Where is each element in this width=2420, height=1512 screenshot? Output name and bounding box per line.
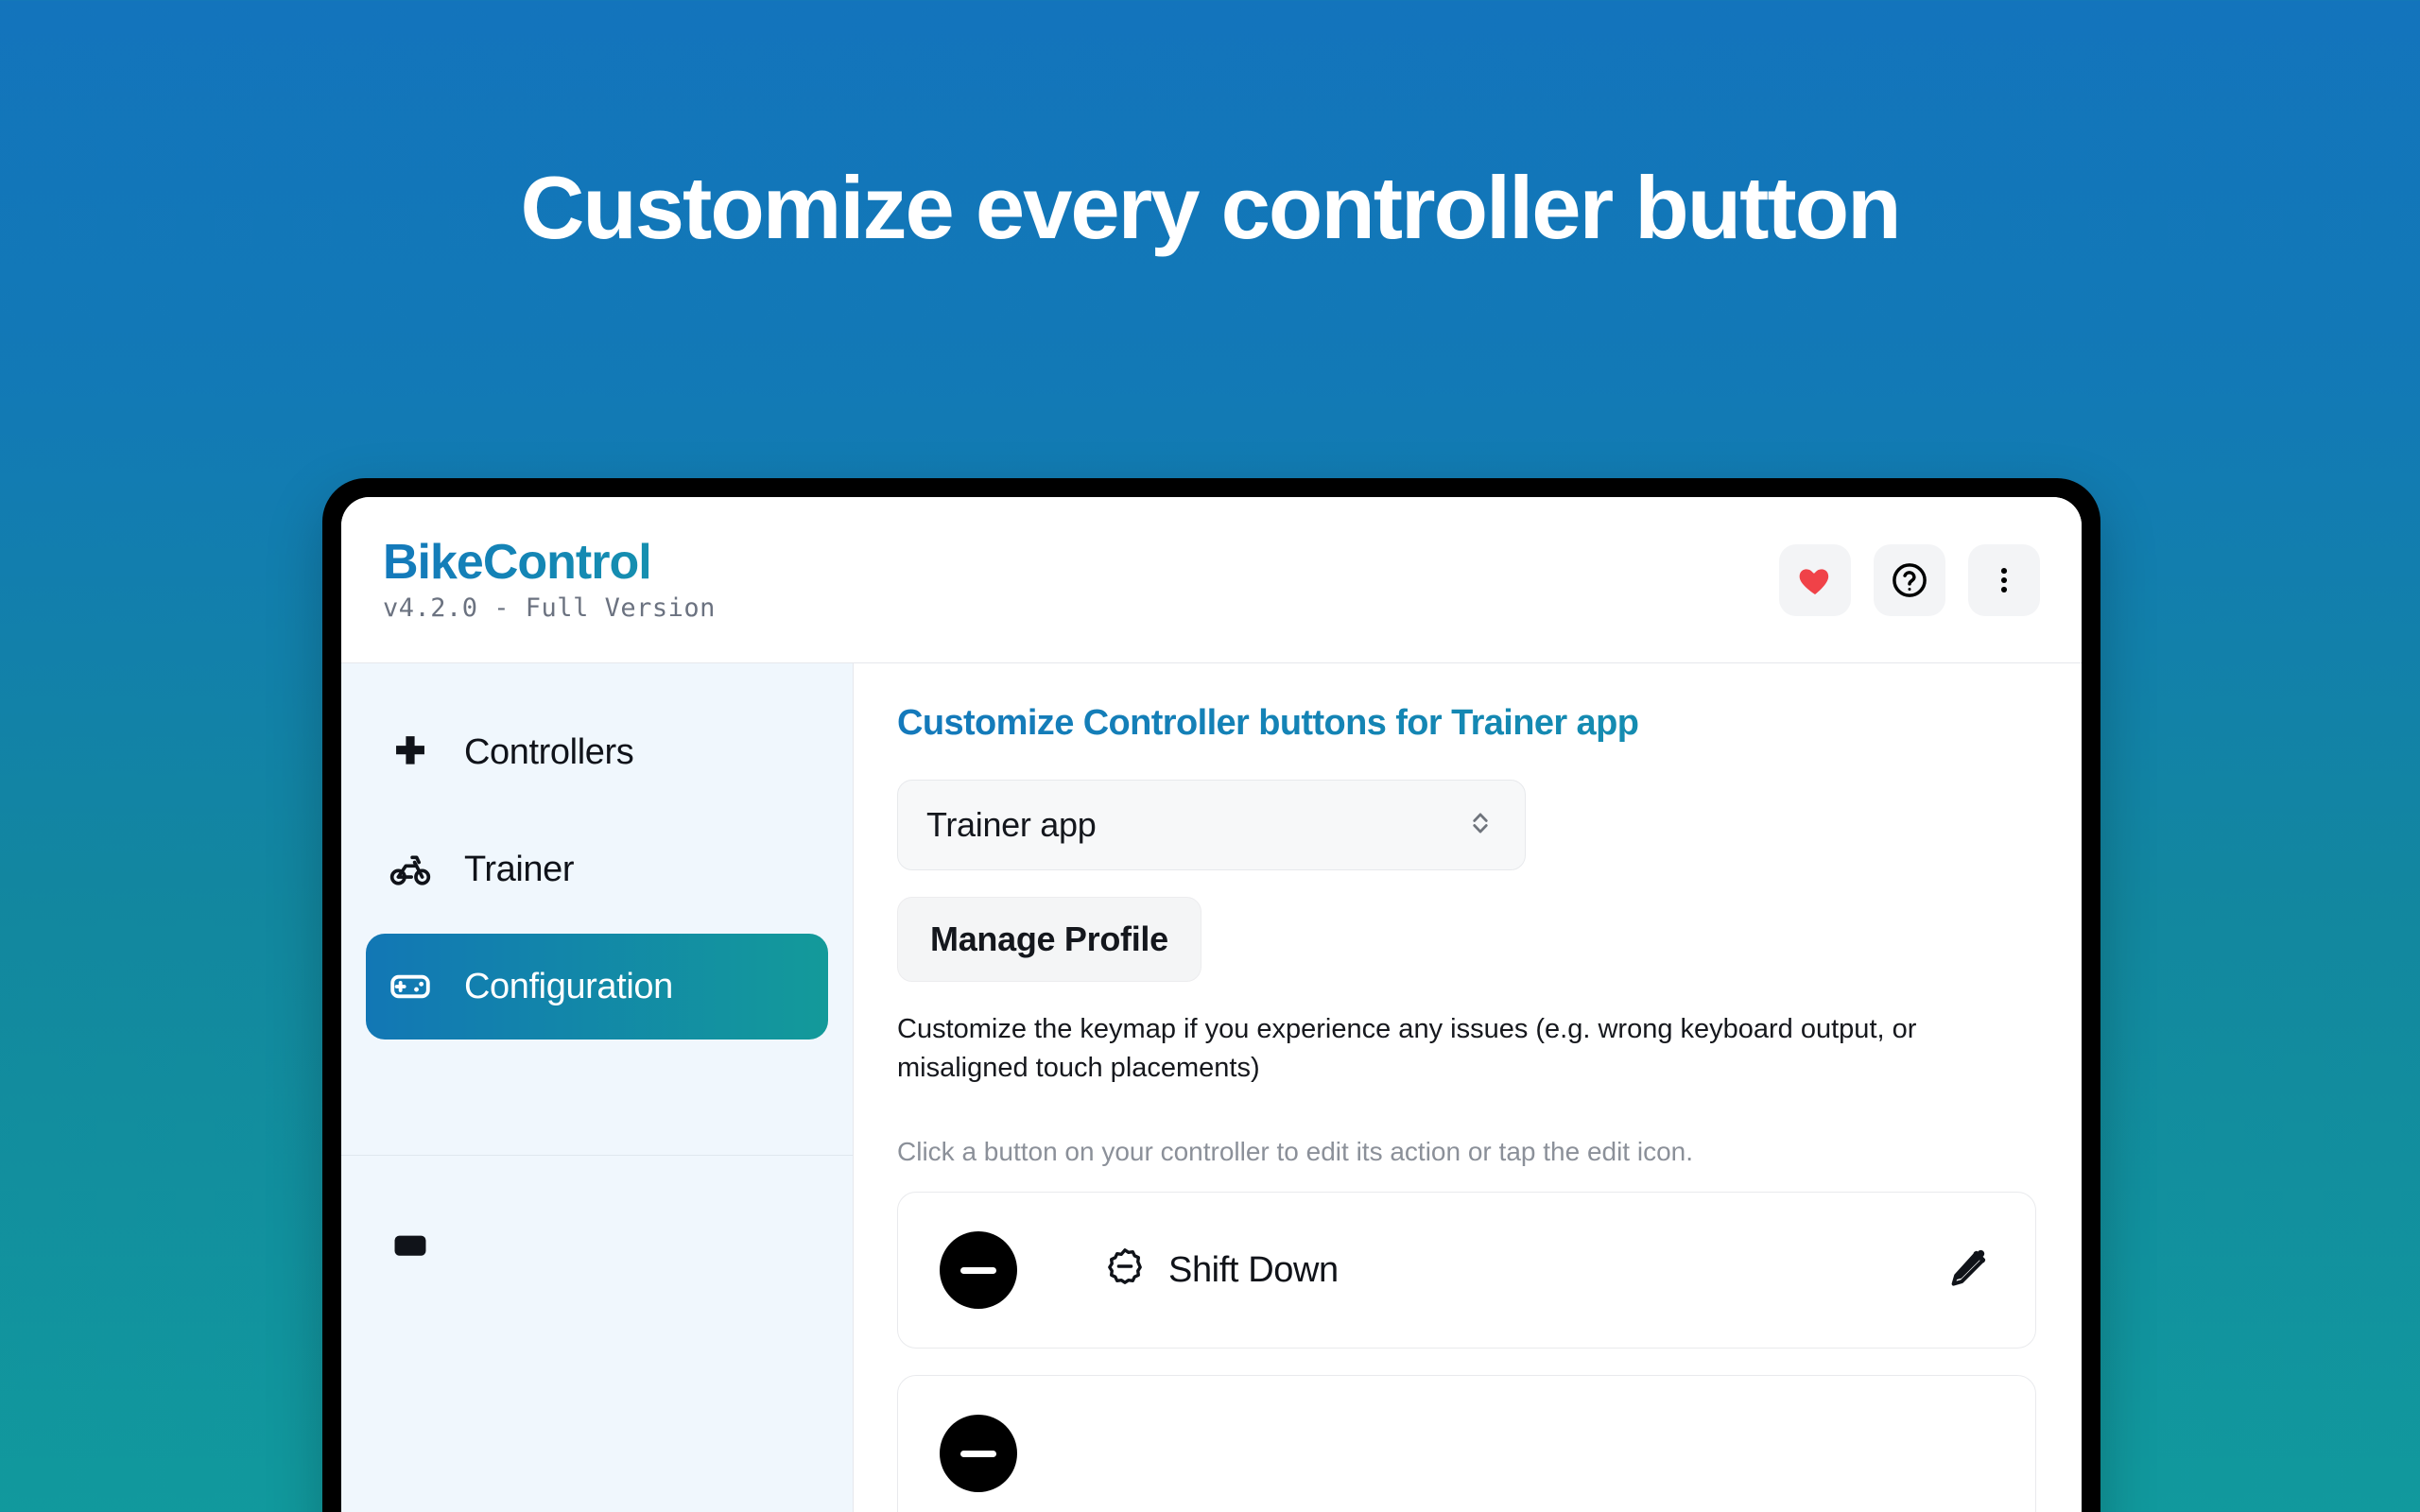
chevron-up-down-icon <box>1464 807 1496 844</box>
controller-button-badge <box>940 1231 1017 1309</box>
sidebar-item-label: Controllers <box>464 732 633 773</box>
sidebar: Controllers Trainer <box>341 663 854 1512</box>
more-options-button[interactable] <box>1968 544 2040 616</box>
minus-glyph <box>960 1267 996 1274</box>
gamepad-icon <box>389 965 432 1008</box>
header-actions <box>1779 544 2040 616</box>
heart-icon <box>1796 561 1834 599</box>
device-frame: BikeControl v4.2.0 - Full Version <box>322 478 2100 1512</box>
app-select[interactable]: Trainer app <box>897 780 1526 870</box>
app-brand-name: BikeControl <box>383 537 716 589</box>
manage-profile-button[interactable]: Manage Profile <box>897 897 1201 982</box>
help-button[interactable] <box>1874 544 1945 616</box>
mapping-row-next[interactable] <box>897 1375 2036 1512</box>
sidebar-item-label: Trainer <box>464 850 574 890</box>
sidebar-item-configuration[interactable]: Configuration <box>366 934 828 1039</box>
brand-block: BikeControl v4.2.0 - Full Version <box>383 537 716 624</box>
favorite-button[interactable] <box>1779 544 1851 616</box>
mapping-action: Shift Down <box>1102 1246 1937 1296</box>
sidebar-item-overflow[interactable] <box>366 1193 828 1298</box>
app-select-value: Trainer app <box>926 805 1096 845</box>
page-title: Customize every controller button <box>0 159 2420 256</box>
sidebar-item-label: Configuration <box>464 967 673 1007</box>
minus-badge-icon <box>1102 1246 1148 1296</box>
dpad-icon <box>389 730 432 774</box>
app-version-label: v4.2.0 - Full Version <box>383 593 716 623</box>
sidebar-divider <box>341 1155 853 1156</box>
app-body: Controllers Trainer <box>341 663 2082 1512</box>
sidebar-item-controllers[interactable]: Controllers <box>366 699 828 805</box>
app-header: BikeControl v4.2.0 - Full Version <box>341 497 2082 663</box>
bicycle-icon <box>389 848 432 891</box>
device-screen: BikeControl v4.2.0 - Full Version <box>341 497 2082 1512</box>
mapping-row-shift-down[interactable]: Shift Down <box>897 1192 2036 1349</box>
sidebar-item-trainer[interactable]: Trainer <box>366 816 828 922</box>
mapping-action-label: Shift Down <box>1168 1250 1339 1291</box>
keymap-helper-text: Customize the keymap if you experience a… <box>897 1010 2036 1088</box>
more-vertical-icon <box>1988 564 2020 596</box>
section-title: Customize Controller buttons for Trainer… <box>897 703 2036 744</box>
pencil-icon <box>1945 1247 1989 1294</box>
controller-button-badge <box>940 1415 1017 1492</box>
settings-icon <box>389 1224 432 1267</box>
edit-mapping-button[interactable] <box>1937 1240 1997 1300</box>
help-circle-icon <box>1890 560 1929 600</box>
main-content: Customize Controller buttons for Trainer… <box>854 663 2082 1512</box>
minus-glyph <box>960 1451 996 1457</box>
edit-hint-text: Click a button on your controller to edi… <box>897 1137 2036 1167</box>
